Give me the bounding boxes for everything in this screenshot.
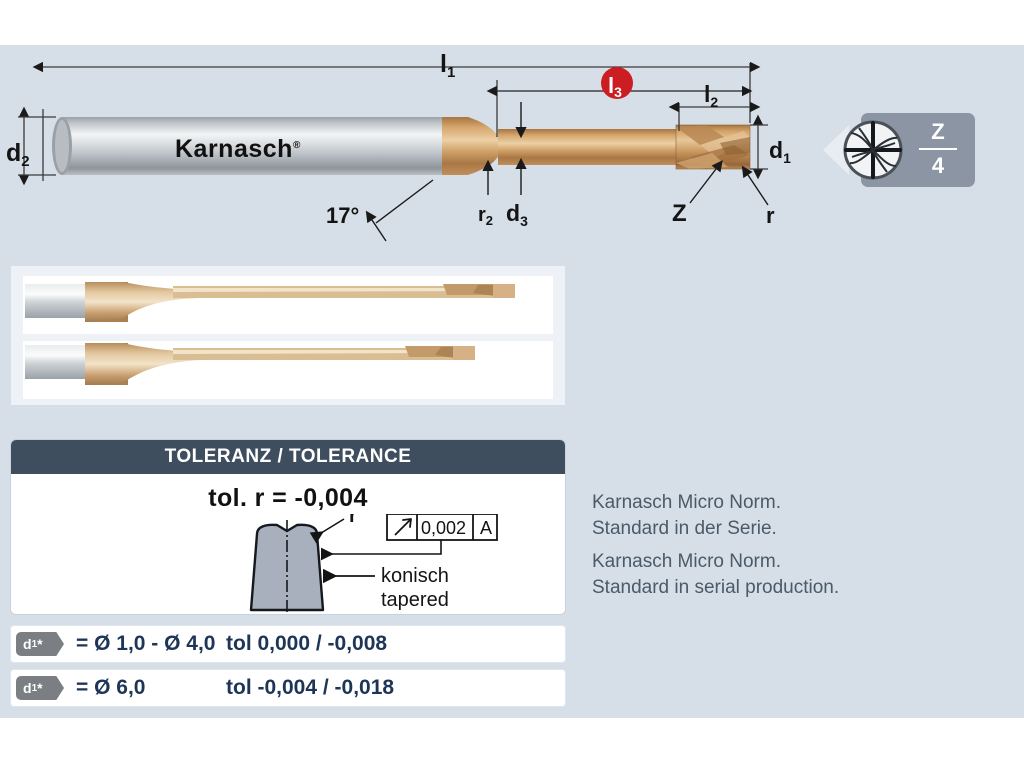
label-tapered: tapered xyxy=(381,589,449,611)
side-note-german-line2: Standard in der Serie. xyxy=(592,516,1002,542)
side-note-english-line1: Karnasch Micro Norm. xyxy=(592,549,1002,575)
flute-count-badge: Z 4 xyxy=(823,113,975,188)
label-angle: 17° xyxy=(326,203,359,228)
label-r2: r2 xyxy=(478,204,493,228)
d1-tolerance-row-1: d1* = Ø 1,0 - Ø 4,0 tol 0,000 / -0,008 xyxy=(11,626,565,662)
label-konisch: konisch xyxy=(381,565,449,587)
label-d3: d3 xyxy=(506,200,528,229)
tool-photo-top xyxy=(23,276,553,334)
ffc-datum: A xyxy=(480,518,492,538)
tolerance-equation: tol. r = -0,004 xyxy=(11,484,565,513)
d1-tolerance-row-2: d1* = Ø 6,0 tol -0,004 / -0,018 xyxy=(11,670,565,706)
side-note-english: Karnasch Micro Norm. Standard in serial … xyxy=(592,549,1002,601)
tolerance-panel-header: TOLERANZ / TOLERANCE xyxy=(11,440,565,474)
label-d2: d2 xyxy=(6,139,30,170)
label-z: Z xyxy=(672,200,687,227)
label-l2: l2 xyxy=(704,81,718,110)
tolerance-panel: TOLERANZ / TOLERANCE tol. r = -0,004 xyxy=(11,440,565,614)
karnasch-logo: Karnasch® xyxy=(175,135,301,163)
d1-tolerance-2: tol -0,004 / -0,018 xyxy=(226,676,394,700)
tool-taper xyxy=(442,117,500,175)
label-l3-badge: l3 xyxy=(601,67,633,100)
label-l1: l1 xyxy=(440,50,455,81)
leader-r xyxy=(748,175,768,205)
d1-badge-2: d1* xyxy=(16,676,64,700)
dimension-lines-d1 xyxy=(750,125,768,169)
ffc-value: 0,002 xyxy=(421,518,466,538)
page-root: l1 l2 d1 d2 d3 r2 r Z 17° l3 Karnasch® xyxy=(0,0,1024,768)
label-tolerance-r: r xyxy=(349,514,357,527)
flute-symbol: Z xyxy=(917,117,959,147)
leader-17deg xyxy=(372,180,433,241)
side-note-english-line2: Standard in serial production. xyxy=(592,575,1002,601)
leader-z xyxy=(690,169,716,203)
tool-neck xyxy=(498,129,680,165)
side-note-german-line1: Karnasch Micro Norm. xyxy=(592,490,1002,516)
d1-equation-1: = Ø 1,0 - Ø 4,0 xyxy=(76,632,215,656)
flute-fraction: Z 4 xyxy=(917,117,959,181)
tolerance-panel-body: tol. r = -0,004 r xyxy=(11,474,565,614)
endmill-cross-section-icon xyxy=(843,120,903,180)
tool-photo-panel xyxy=(11,266,565,405)
flute-badge-card: Z 4 xyxy=(861,113,975,187)
label-d1: d1 xyxy=(769,137,791,166)
flute-count: 4 xyxy=(917,151,959,181)
tolerance-figure: r 0,002 A xyxy=(11,514,565,614)
fraction-bar xyxy=(919,148,957,150)
d1-badge-letter-2: d xyxy=(23,680,32,696)
leader-ffc xyxy=(321,540,441,554)
d1-badge-star-2: * xyxy=(37,680,42,696)
tool-cutting-head xyxy=(676,125,750,169)
side-note-german: Karnasch Micro Norm. Standard in der Ser… xyxy=(592,490,1002,542)
d1-tolerance-1: tol 0,000 / -0,008 xyxy=(226,632,387,656)
d1-badge-star-1: * xyxy=(37,636,42,652)
d1-badge-1: d1* xyxy=(16,632,64,656)
d1-badge-letter-1: d xyxy=(23,636,32,652)
feature-control-frame: 0,002 A xyxy=(387,514,497,540)
d1-equation-2: = Ø 6,0 xyxy=(76,676,145,700)
label-r: r xyxy=(766,203,775,228)
tool-photo-bottom xyxy=(23,341,553,399)
leader-tolerance-r xyxy=(313,519,344,538)
